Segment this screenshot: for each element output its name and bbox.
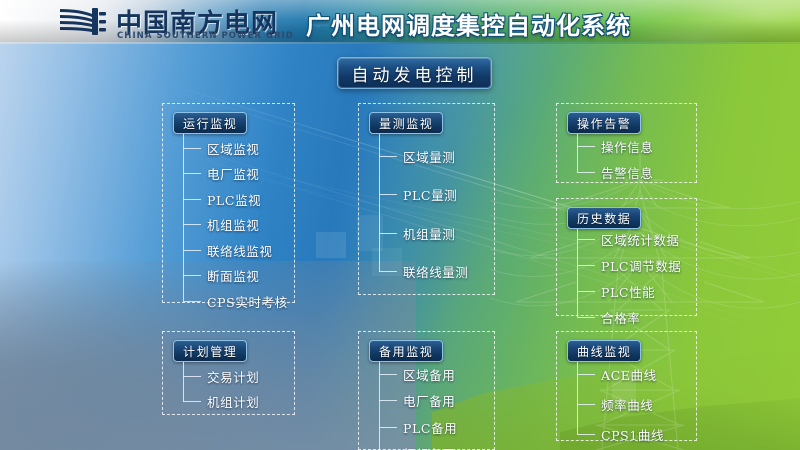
panel-header-operation-alarm[interactable]: 操作告警 (567, 112, 641, 134)
menu-item-history-data-3[interactable]: PLC性能 (577, 283, 655, 299)
tree-connector-line (379, 400, 397, 401)
panel-header-measurement-monitoring[interactable]: 量测监视 (369, 112, 443, 134)
menu-item-history-data-4[interactable]: 合格率 (577, 309, 640, 325)
tree-connector-line (577, 265, 595, 266)
menu-item-measurement-monitoring-4[interactable]: 联络线量测 (379, 264, 469, 280)
menu-item-operation-monitoring-5[interactable]: 联络线监视 (183, 242, 273, 258)
menu-item-label: 操作信息 (601, 137, 653, 156)
tree-connector-line (379, 271, 397, 272)
tree-connector-line (577, 374, 595, 375)
page-title: 自动发电控制 (352, 61, 478, 86)
tree-connector-line (577, 434, 595, 435)
menu-item-label: 断面监视 (207, 266, 259, 285)
menu-item-plan-management-2[interactable]: 机组计划 (183, 394, 259, 410)
menu-item-reserve-monitoring-2[interactable]: 电厂备用 (379, 393, 455, 409)
menu-item-measurement-monitoring-1[interactable]: 区域量测 (379, 148, 455, 164)
panel-measurement-monitoring: 量测监视区域量测PLC量测机组量测联络线量测 (358, 103, 495, 295)
panel-header-label: 备用监视 (379, 343, 433, 360)
menu-item-label: 联络线量测 (403, 262, 469, 281)
tree-connector-line (379, 427, 397, 428)
menu-item-curve-monitoring-3[interactable]: CPS1曲线 (577, 426, 664, 442)
menu-item-label: 机组量测 (403, 224, 455, 243)
app-header: 中国南方电网 CHINA SOUTHERN POWER GRID 广州电网调度集… (0, 0, 800, 44)
page-title-button[interactable]: 自动发电控制 (337, 57, 492, 89)
menu-item-measurement-monitoring-3[interactable]: 机组量测 (379, 225, 455, 241)
menu-item-label: 机组计划 (207, 392, 259, 411)
menu-item-label: PLC调节数据 (601, 256, 681, 275)
menu-item-label: 区域统计数据 (601, 230, 680, 249)
menu-item-history-data-2[interactable]: PLC调节数据 (577, 257, 681, 273)
panel-history-data: 历史数据区域统计数据PLC调节数据PLC性能合格率 (556, 198, 697, 316)
panel-operation-alarm: 操作告警操作信息告警信息 (556, 103, 697, 183)
tree-connector-line (379, 233, 397, 234)
tree-connector-line (577, 291, 595, 292)
menu-item-curve-monitoring-1[interactable]: ACE曲线 (577, 366, 657, 382)
tree-connector-line (577, 404, 595, 405)
background-square-1 (316, 232, 346, 258)
tree-connector-line (183, 401, 201, 402)
menu-item-label: PLC量测 (403, 185, 457, 204)
header-bottom-edge (0, 42, 800, 44)
menu-item-measurement-monitoring-2[interactable]: PLC量测 (379, 187, 457, 203)
menu-item-label: 电厂备用 (403, 391, 455, 410)
menu-item-label: 区域备用 (403, 365, 455, 384)
menu-item-label: 联络线监视 (207, 241, 273, 260)
tree-connector-line (183, 199, 201, 200)
menu-item-label: 机组备用 (403, 444, 455, 450)
tree-connector-line (577, 172, 595, 173)
brand-name-en: CHINA SOUTHERN POWER GRID (117, 31, 294, 41)
menu-item-label: 告警信息 (601, 163, 653, 182)
panel-header-label: 操作告警 (577, 115, 631, 132)
tree-connector-line (183, 275, 201, 276)
menu-item-label: 频率曲线 (601, 395, 653, 414)
panel-header-reserve-monitoring[interactable]: 备用监视 (369, 340, 443, 362)
menu-item-label: 区域量测 (403, 147, 455, 166)
tree-connector-line (577, 239, 595, 240)
panel-header-operation-monitoring[interactable]: 运行监视 (173, 112, 247, 134)
tree-connector-line (379, 156, 397, 157)
panel-header-curve-monitoring[interactable]: 曲线监视 (567, 340, 641, 362)
menu-item-label: PLC监视 (207, 190, 261, 209)
tree-connector-line (577, 317, 595, 318)
panel-header-label: 量测监视 (379, 115, 433, 132)
menu-item-label: 合格率 (601, 308, 640, 327)
panel-header-plan-management[interactable]: 计划管理 (173, 340, 247, 362)
menu-item-reserve-monitoring-4[interactable]: 机组备用 (379, 446, 455, 450)
panel-header-label: 运行监视 (183, 115, 237, 132)
menu-item-plan-management-1[interactable]: 交易计划 (183, 368, 259, 384)
menu-item-operation-monitoring-1[interactable]: 区域监视 (183, 140, 259, 156)
menu-item-operation-monitoring-6[interactable]: 断面监视 (183, 268, 259, 284)
tree-connector-line (577, 146, 595, 147)
tree-connector-line (183, 173, 201, 174)
panel-plan-management: 计划管理交易计划机组计划 (162, 331, 295, 415)
panel-header-label: 计划管理 (183, 343, 237, 360)
menu-item-operation-alarm-1[interactable]: 操作信息 (577, 138, 653, 154)
menu-item-reserve-monitoring-3[interactable]: PLC备用 (379, 419, 457, 435)
menu-item-label: PLC性能 (601, 282, 655, 301)
panel-header-label: 曲线监视 (577, 343, 631, 360)
tree-connector-line (183, 250, 201, 251)
menu-item-operation-monitoring-4[interactable]: 机组监视 (183, 217, 259, 233)
menu-item-label: ACE曲线 (601, 365, 657, 384)
menu-item-label: PLC备用 (403, 418, 457, 437)
menu-item-label: CPS1曲线 (601, 425, 664, 444)
menu-item-operation-alarm-2[interactable]: 告警信息 (577, 164, 653, 180)
panel-operation-monitoring: 运行监视区域监视电厂监视PLC监视机组监视联络线监视断面监视CPS实时考核 (162, 103, 295, 303)
tree-connector-line (183, 376, 201, 377)
panel-header-history-data[interactable]: 历史数据 (567, 207, 641, 229)
menu-item-operation-monitoring-7[interactable]: CPS实时考核 (183, 293, 288, 309)
application-screen: 中国南方电网 CHINA SOUTHERN POWER GRID 广州电网调度集… (0, 0, 800, 450)
system-title: 广州电网调度集控自动化系统 (306, 6, 631, 41)
southern-power-grid-logo-icon (58, 4, 108, 40)
menu-item-operation-monitoring-3[interactable]: PLC监视 (183, 191, 261, 207)
menu-item-label: 区域监视 (207, 139, 259, 158)
menu-item-label: 电厂监视 (207, 164, 259, 183)
menu-item-reserve-monitoring-1[interactable]: 区域备用 (379, 366, 455, 382)
tree-connector-line (183, 224, 201, 225)
tree-connector-line (379, 374, 397, 375)
panel-curve-monitoring: 曲线监视ACE曲线频率曲线CPS1曲线 (556, 331, 697, 441)
menu-item-curve-monitoring-2[interactable]: 频率曲线 (577, 396, 653, 412)
tree-connector-line (183, 148, 201, 149)
tree-connector-line (183, 301, 201, 302)
menu-item-history-data-1[interactable]: 区域统计数据 (577, 231, 680, 247)
menu-item-label: 交易计划 (207, 367, 259, 386)
menu-item-label: 机组监视 (207, 215, 259, 234)
tree-connector-line (379, 194, 397, 195)
menu-item-operation-monitoring-2[interactable]: 电厂监视 (183, 166, 259, 182)
panel-reserve-monitoring: 备用监视区域备用电厂备用PLC备用机组备用 (358, 331, 495, 450)
menu-item-label: CPS实时考核 (207, 292, 288, 311)
panel-header-label: 历史数据 (577, 210, 631, 227)
